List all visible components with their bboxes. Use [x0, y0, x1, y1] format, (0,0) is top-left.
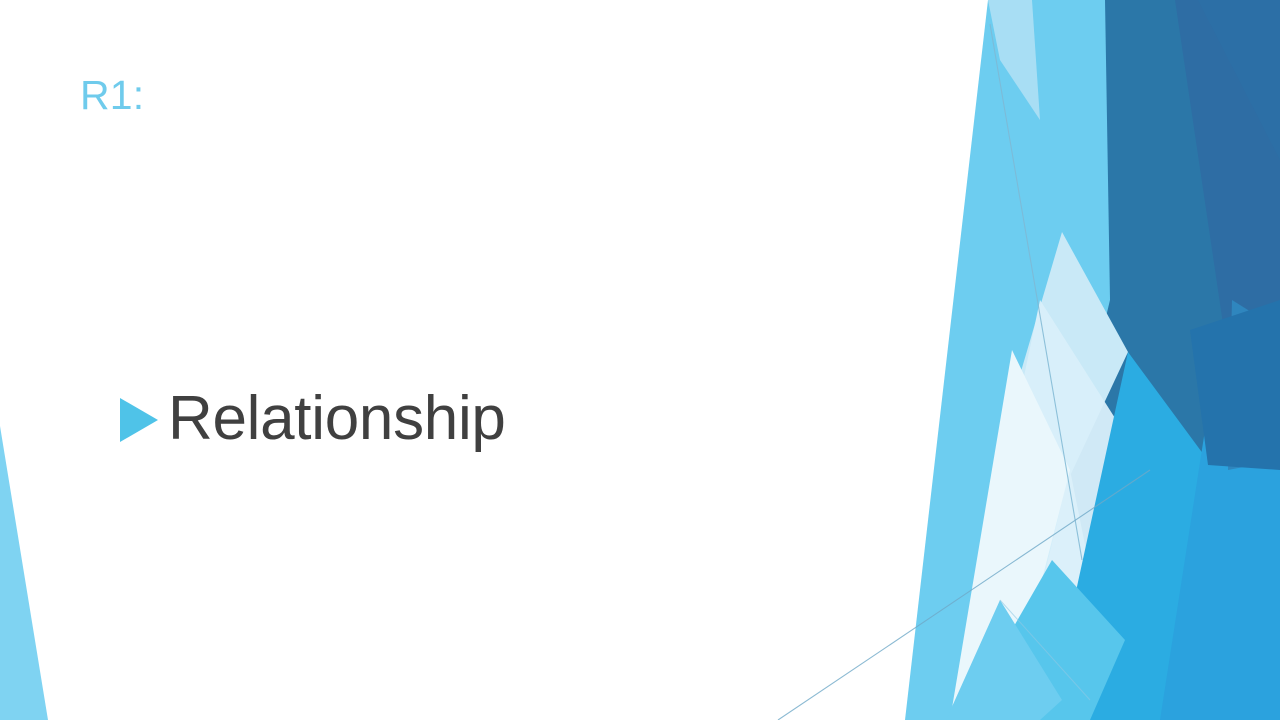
bg-shape-deep-accent-corner	[1198, 0, 1280, 160]
bullet-item[interactable]: Relationship	[120, 386, 880, 451]
bg-shape-faint-wedge-lower	[952, 300, 1148, 720]
bullet-text: Relationship	[168, 386, 506, 451]
bg-hairline-lower	[1000, 600, 1090, 700]
bg-shape-deep-blue-topright	[1150, 0, 1280, 455]
slide-canvas: R1: Relationship	[0, 0, 1280, 720]
bg-shape-light-sliver-top	[988, 0, 1040, 120]
slide-title: R1:	[80, 72, 780, 119]
bg-shape-sky-blue-band	[905, 0, 1110, 720]
triangle-bullet-icon	[120, 398, 158, 442]
bg-hairline-vertical	[990, 24, 1082, 560]
bg-shape-dark-column-right	[1228, 300, 1280, 470]
bg-shape-sky-bottom-wedge	[960, 560, 1125, 720]
bg-shape-pale-narrow-wedge	[950, 350, 1070, 720]
bg-shape-mid-blue-right	[1160, 430, 1280, 720]
bg-shape-dark-blue-band	[1040, 0, 1258, 720]
bg-shape-bottom-left-sliver	[0, 426, 48, 720]
bg-shape-bright-cyan-lower	[1048, 352, 1280, 720]
bg-hairline-diagonal	[778, 470, 1150, 720]
bg-shape-light-bottom-band	[946, 600, 1062, 720]
body-placeholder[interactable]: Relationship	[120, 386, 880, 451]
title-placeholder[interactable]: R1:	[80, 72, 780, 119]
bg-shape-pale-wedge-mid	[992, 232, 1128, 540]
bg-shape-deep-wedge-midright	[1190, 300, 1280, 470]
